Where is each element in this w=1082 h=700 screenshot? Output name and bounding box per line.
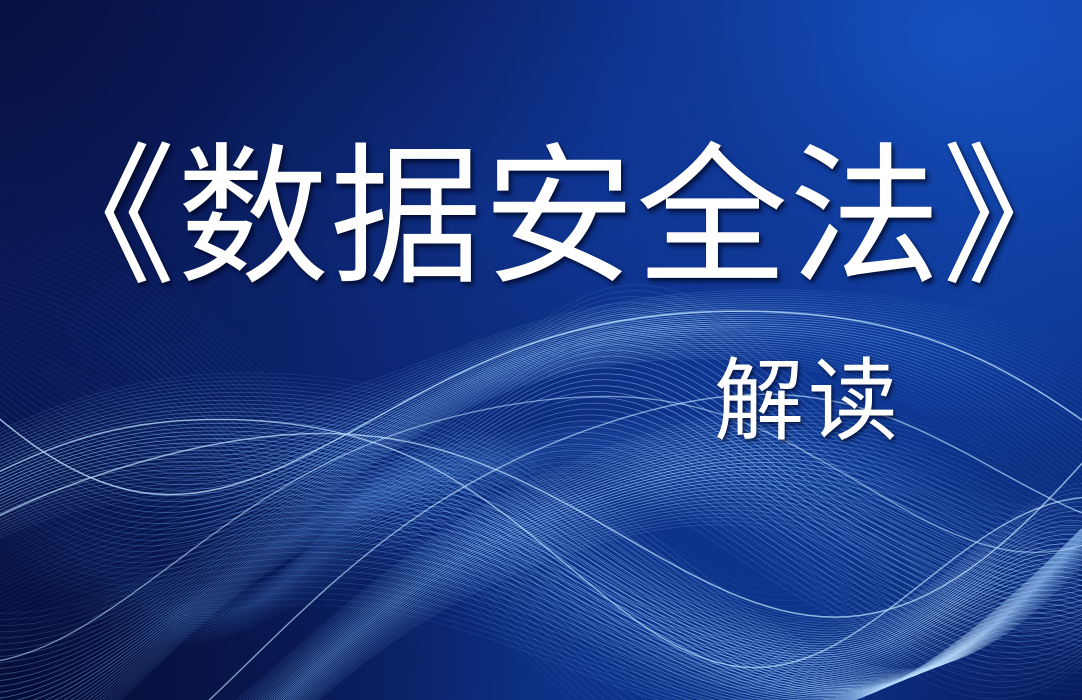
wave-line — [0, 231, 1082, 559]
poster-canvas: 《数据安全法》 解读 — [0, 0, 1082, 700]
wave-mesh-decoration — [0, 0, 1082, 700]
wave-line — [0, 280, 1082, 412]
